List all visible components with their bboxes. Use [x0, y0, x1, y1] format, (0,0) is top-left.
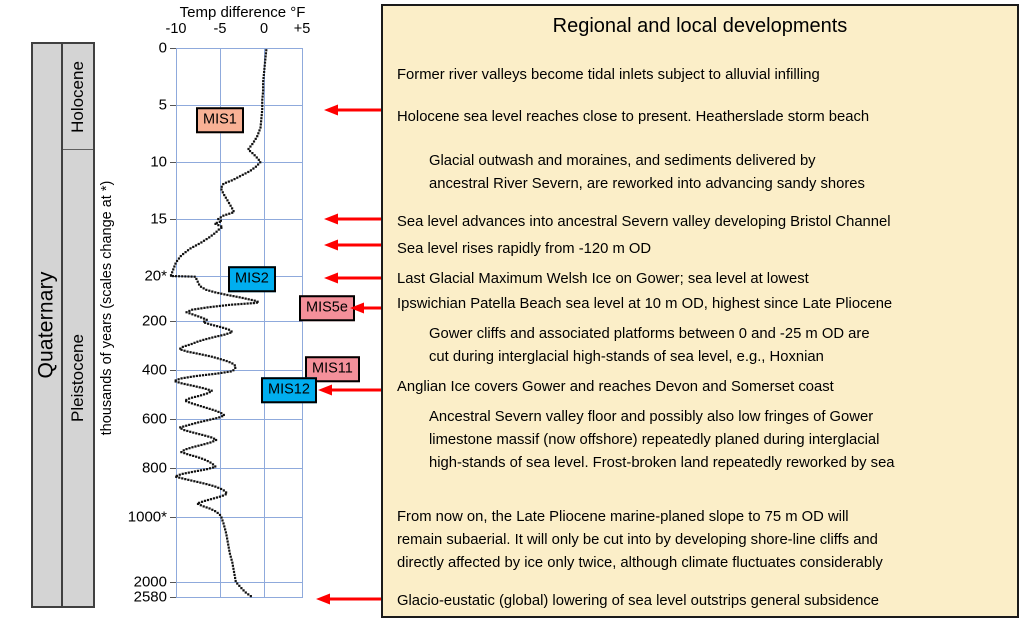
- y-axis-title: thousands of years (scales change at *): [99, 143, 115, 473]
- mis-label-mis1: MIS1: [196, 107, 244, 133]
- panel-line-former-river-valleys: Former river valleys become tidal inlets…: [397, 68, 1009, 84]
- x-tick-minus10: -10: [166, 21, 187, 37]
- panel-line-last-glacial-maximum: Last Glacial Maximum Welsh Ice on Gower;…: [397, 272, 1009, 288]
- strat-epoch-pleistocene: Pleistocene: [63, 150, 93, 606]
- panel-line-late-pliocene-a: From now on, the Late Pliocene marine-pl…: [397, 510, 1009, 526]
- panel-line-late-pliocene-c: directly affected by ice only twice, alt…: [397, 556, 1009, 572]
- arrow-ipswichian-patella-beach: [350, 301, 384, 315]
- x-tick-zero: 0: [260, 21, 268, 37]
- arrow-bristol-channel: [324, 212, 384, 226]
- strat-period-quaternary: Quaternary: [33, 44, 63, 606]
- panel-line-gower-cliffs-b: cut during interglacial high-stands of s…: [429, 350, 1009, 366]
- y-tick-10: 10: [150, 154, 176, 171]
- panel-line-holocene-sea-level: Holocene sea level reaches close to pres…: [397, 110, 1009, 126]
- arrow-glacio-eustatic-lowering: [316, 592, 384, 606]
- y-tick-1000: 1000*: [128, 509, 176, 526]
- y-tick-800: 800: [142, 460, 176, 477]
- arrow-last-glacial-maximum: [324, 271, 384, 285]
- y-tick-15: 15: [150, 211, 176, 228]
- stratigraphic-column: Quaternary Holocene Pleistocene: [31, 42, 95, 608]
- strat-period-label: Quaternary: [35, 271, 59, 378]
- panel-line-ancestral-severn-c: high-stands of sea level. Frost-broken l…: [429, 456, 1009, 472]
- mis-label-mis2: MIS2: [228, 266, 276, 292]
- regional-developments-panel: Regional and local developments Former r…: [381, 4, 1019, 618]
- y-tick-600: 600: [142, 411, 176, 428]
- arrow-holocene-sea-level: [324, 103, 384, 117]
- panel-line-glacial-outwash-a: Glacial outwash and moraines, and sedime…: [429, 154, 1009, 170]
- y-tick-0: 0: [159, 40, 176, 57]
- y-tick-2580: 2580: [134, 589, 176, 606]
- x-tick-minus5: -5: [214, 21, 227, 37]
- y-tick-200: 200: [142, 313, 176, 330]
- x-tick-plus5: +5: [294, 21, 311, 37]
- y-tick-400: 400: [142, 362, 176, 379]
- panel-line-late-pliocene-b: remain subaerial. It will only be cut in…: [397, 533, 1009, 549]
- diagram-canvas: Quaternary Holocene Pleistocene thousand…: [0, 0, 1023, 622]
- panel-line-bristol-channel: Sea level advances into ancestral Severn…: [397, 215, 1009, 231]
- strat-epoch-pleistocene-label: Pleistocene: [68, 334, 88, 422]
- mis-label-mis5e: MIS5e: [299, 295, 355, 321]
- panel-title: Regional and local developments: [383, 15, 1017, 38]
- panel-line-glacio-eustatic: Glacio-eustatic (global) lowering of sea…: [397, 594, 1009, 610]
- panel-line-sea-level-rise: Sea level rises rapidly from -120 m OD: [397, 242, 1009, 258]
- panel-line-anglian-ice: Anglian Ice covers Gower and reaches Dev…: [397, 380, 1009, 396]
- strat-epoch-holocene-label: Holocene: [68, 61, 88, 133]
- chart-title: Temp difference °F: [160, 4, 325, 21]
- arrow-anglian-ice: [318, 383, 384, 397]
- panel-line-ancestral-severn-a: Ancestral Severn valley floor and possib…: [429, 410, 1009, 426]
- strat-epoch-holocene: Holocene: [63, 44, 93, 150]
- panel-line-glacial-outwash-b: ancestral River Severn, are reworked int…: [429, 177, 1009, 193]
- panel-line-gower-cliffs-a: Gower cliffs and associated platforms be…: [429, 327, 1009, 343]
- panel-line-ancestral-severn-b: limestone massif (now offshore) repeated…: [429, 433, 1009, 449]
- panel-line-ipswichian-patella: Ipswichian Patella Beach sea level at 10…: [397, 297, 1009, 313]
- arrow-sea-level-rise: [324, 238, 384, 252]
- mis-label-mis12: MIS12: [261, 377, 317, 403]
- y-tick-5: 5: [159, 97, 176, 114]
- strat-epoch-group: Holocene Pleistocene: [63, 44, 93, 606]
